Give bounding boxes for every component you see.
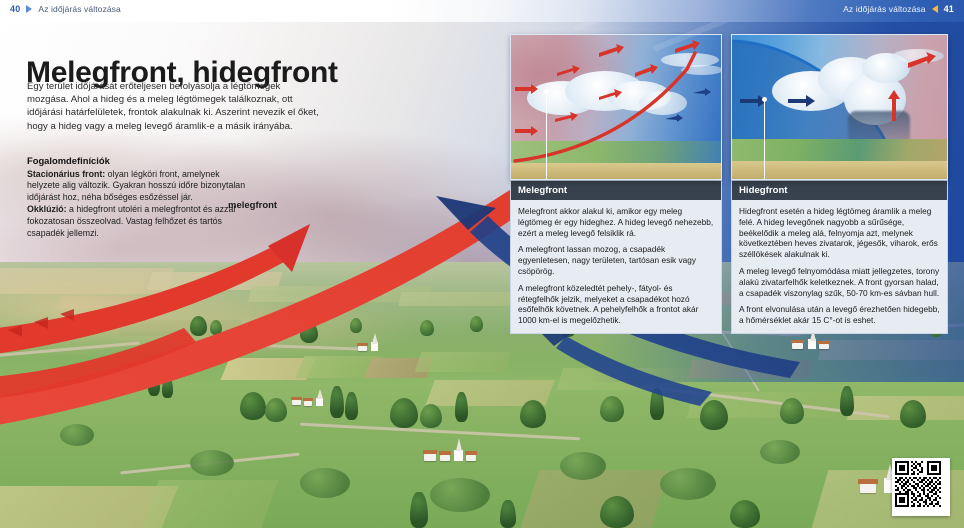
panel-paragraph: A meleg levegő felnyomódása miatt jelleg…	[739, 266, 940, 298]
tree	[700, 400, 728, 430]
tree	[470, 316, 483, 332]
church-spire	[456, 438, 462, 451]
house	[819, 344, 829, 349]
definition-item: Stacionárius front: olyan légköri front,…	[27, 169, 252, 204]
field-patch	[521, 470, 670, 528]
house	[466, 455, 476, 461]
tree	[148, 370, 160, 396]
panel-paragraph: A front elvonulása után a levegő érezhet…	[739, 304, 940, 326]
tree	[345, 392, 358, 420]
tree	[58, 326, 68, 339]
tree	[210, 320, 222, 335]
tree	[240, 392, 266, 420]
church	[316, 398, 323, 406]
tree	[600, 396, 624, 422]
tree	[455, 392, 468, 422]
house-roof	[423, 450, 437, 454]
house-roof	[465, 451, 477, 455]
hidegfront-diagram	[731, 34, 948, 180]
tree	[300, 322, 318, 343]
tree	[420, 320, 434, 336]
header-right: Az időjárás változása 41	[843, 4, 954, 14]
definition-item: Okklúzió: a hidegfront utoléri a melegfr…	[27, 204, 252, 239]
panel-title-hidegfront: Hidegfront	[731, 180, 948, 200]
bush	[660, 468, 716, 500]
tree	[190, 316, 207, 336]
measure-line	[764, 101, 765, 180]
header-background	[0, 0, 964, 22]
house	[358, 346, 367, 351]
house-roof	[818, 341, 830, 344]
measure-line	[546, 93, 547, 180]
left-section-title: Az időjárás változása	[38, 4, 120, 14]
tree	[410, 492, 428, 528]
house-roof	[858, 479, 878, 484]
panel-hidegfront: Hidegfront Hidegfront esetén a hideg lég…	[731, 34, 948, 334]
tree	[780, 398, 804, 424]
melegfront-diagram	[510, 34, 722, 180]
qr-code[interactable]	[892, 458, 950, 516]
house	[860, 484, 876, 493]
header-left: 40 Az időjárás változása	[10, 4, 121, 14]
tree	[44, 322, 57, 339]
church	[454, 450, 463, 461]
textbook-spread: 40 Az időjárás változása Az időjárás vál…	[0, 0, 964, 528]
tree	[255, 318, 269, 335]
left-page-number: 40	[10, 4, 20, 14]
house	[310, 307, 316, 311]
house	[424, 454, 436, 461]
field-patch	[141, 480, 278, 528]
panel-paragraph: Melegfront akkor alakul ki, amikor egy m…	[518, 206, 714, 238]
definitions-heading: Fogalomdefiníciók	[27, 155, 252, 167]
bush	[560, 452, 606, 480]
bush	[190, 450, 234, 476]
tree	[390, 398, 418, 428]
tree	[500, 500, 516, 528]
tree	[350, 318, 362, 333]
tree	[520, 400, 546, 428]
panel-body-melegfront: Melegfront akkor alakul ki, amikor egy m…	[510, 200, 722, 334]
tree	[330, 386, 344, 418]
church-spire	[317, 389, 323, 399]
tree	[730, 500, 760, 528]
house-roof	[439, 451, 451, 455]
tree	[900, 400, 926, 428]
house	[300, 307, 307, 311]
qr-code-icon	[895, 461, 941, 507]
panel-title-melegfront: Melegfront	[510, 180, 722, 200]
right-page-number: 41	[944, 4, 954, 14]
definitions-block: Fogalomdefiníciók Stacionárius front: ol…	[27, 155, 252, 240]
triangle-right-icon	[26, 5, 32, 13]
page-header: 40 Az időjárás változása Az időjárás vál…	[0, 0, 964, 22]
house-roof	[291, 397, 302, 400]
house-roof	[299, 305, 308, 307]
house	[304, 401, 312, 406]
house-roof	[303, 398, 313, 401]
tree	[600, 496, 634, 528]
definition-term: Stacionárius front:	[27, 169, 105, 179]
house-roof	[791, 340, 804, 343]
definition-term: Okklúzió:	[27, 204, 67, 214]
cold-air-arrows	[511, 35, 722, 179]
house	[292, 400, 301, 405]
panel-paragraph: A melegfront lassan mozog, a csapadék eg…	[518, 244, 714, 276]
tree	[840, 386, 854, 416]
house	[440, 455, 450, 461]
church-spire	[372, 333, 378, 344]
tree	[265, 398, 287, 422]
house-roof	[357, 343, 368, 346]
tree	[650, 388, 664, 420]
bush	[760, 440, 800, 464]
tree	[100, 316, 111, 330]
house	[792, 343, 803, 349]
panel-paragraph: Hidegfront esetén a hideg légtömeg áraml…	[739, 206, 940, 260]
right-section-title: Az időjárás változása	[843, 4, 925, 14]
panel-body-hidegfront: Hidegfront esetén a hideg légtömeg áraml…	[731, 200, 948, 334]
triangle-left-icon	[932, 5, 938, 13]
bush	[430, 478, 490, 512]
panel-paragraph: A melegfront közeledtét pehely-, fátyol-…	[518, 283, 714, 326]
warm-front-diagram-label: melegfront	[228, 200, 277, 211]
panel-melegfront: Melegfront Melegfront akkor alakul ki, a…	[510, 34, 722, 334]
intro-paragraph: Egy terület időjárását erőteljesen befol…	[27, 80, 323, 133]
tree	[162, 376, 173, 398]
tree	[420, 404, 442, 428]
bush	[300, 468, 350, 498]
bush	[60, 424, 94, 446]
